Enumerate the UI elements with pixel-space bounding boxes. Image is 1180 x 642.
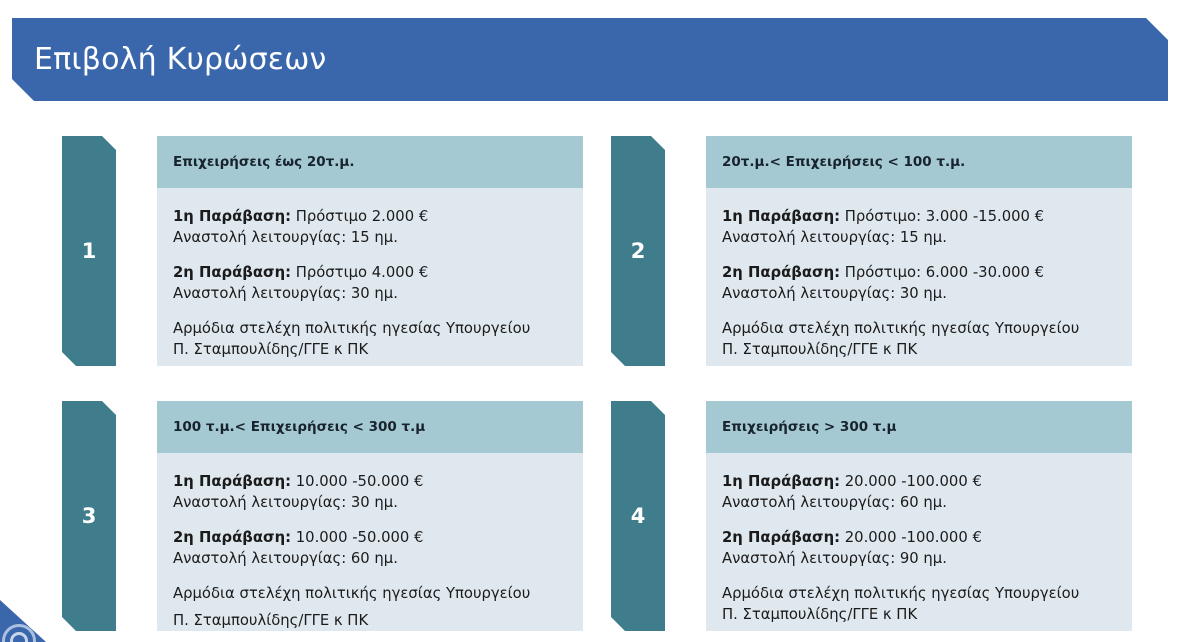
violation-1-value-3: 10.000 -50.000 € bbox=[291, 473, 423, 490]
card-header-label-3: 100 τ.μ.< Επιχειρήσεις < 300 τ.μ bbox=[173, 419, 425, 435]
card-header-1: Επιχειρήσεις έως 20τ.μ. bbox=[157, 136, 583, 188]
card-number-tab-2: 2 bbox=[611, 136, 665, 366]
violation-1-suspension-2: Αναστολή λειτουργίας: 15 ημ. bbox=[722, 227, 1116, 248]
spacer bbox=[173, 513, 567, 527]
violation-1-label-4: 1η Παράβαση: bbox=[722, 473, 840, 490]
violation-2-line-3: 2η Παράβαση: 10.000 -50.000 € bbox=[173, 527, 567, 548]
authority-line-2-card-3: Π. Σταμπουλίδης/ΓΓΕ κ ΠΚ bbox=[173, 610, 567, 631]
card-number-1: 1 bbox=[82, 241, 97, 262]
violation-2-line-2: 2η Παράβαση: Πρόστιμο: 6.000 -30.000 € bbox=[722, 262, 1116, 283]
spacer bbox=[722, 513, 1116, 527]
card-header-3: 100 τ.μ.< Επιχειρήσεις < 300 τ.μ bbox=[157, 401, 583, 453]
violation-1-suspension-4: Αναστολή λειτουργίας: 60 ημ. bbox=[722, 492, 1116, 513]
authority-line-2-card-1: Π. Σταμπουλίδης/ΓΓΕ κ ΠΚ bbox=[173, 339, 567, 360]
violation-1-value-2: Πρόστιμο: 3.000 -15.000 € bbox=[840, 208, 1044, 225]
violation-2-label-2: 2η Παράβαση: bbox=[722, 264, 840, 281]
card-number-3: 3 bbox=[82, 506, 97, 527]
sanction-card-1: 1 Επιχειρήσεις έως 20τ.μ. 1η Παράβαση: Π… bbox=[62, 136, 583, 366]
violation-2-value-3: 10.000 -50.000 € bbox=[291, 529, 423, 546]
violation-2-value-4: 20.000 -100.000 € bbox=[840, 529, 982, 546]
violation-1-line-2: 1η Παράβαση: Πρόστιμο: 3.000 -15.000 € bbox=[722, 206, 1116, 227]
violation-1-label-3: 1η Παράβαση: bbox=[173, 473, 291, 490]
card-content-4: Επιχειρήσεις > 300 τ.μ 1η Παράβαση: 20.0… bbox=[706, 401, 1132, 631]
card-header-label-2: 20τ.μ.< Επιχειρήσεις < 100 τ.μ. bbox=[722, 154, 965, 170]
authority-line-1-card-3: Αρμόδια στελέχη πολιτικής ηγεσίας Υπουργ… bbox=[173, 583, 567, 604]
sanction-card-2: 2 20τ.μ.< Επιχειρήσεις < 100 τ.μ. 1η Παρ… bbox=[611, 136, 1132, 366]
violation-1-label-2: 1η Παράβαση: bbox=[722, 208, 840, 225]
authority-line-2-card-2: Π. Σταμπουλίδης/ΓΓΕ κ ΠΚ bbox=[722, 339, 1116, 360]
title-banner: Επιβολή Κυρώσεων bbox=[12, 18, 1168, 101]
slide-canvas: Επιβολή Κυρώσεων 1 Επιχειρήσεις έως 20τ.… bbox=[0, 0, 1180, 642]
spacer bbox=[173, 569, 567, 583]
spacer bbox=[173, 304, 567, 318]
violation-1-line-1: 1η Παράβαση: Πρόστιμο 2.000 € bbox=[173, 206, 567, 227]
sanction-card-3: 3 100 τ.μ.< Επιχειρήσεις < 300 τ.μ 1η Πα… bbox=[62, 401, 583, 631]
card-content-3: 100 τ.μ.< Επιχειρήσεις < 300 τ.μ 1η Παρά… bbox=[157, 401, 583, 631]
card-body-1: 1η Παράβαση: Πρόστιμο 2.000 € Αναστολή λ… bbox=[157, 188, 583, 366]
page-title: Επιβολή Κυρώσεων bbox=[12, 43, 326, 76]
violation-2-suspension-4: Αναστολή λειτουργίας: 90 ημ. bbox=[722, 548, 1116, 569]
spacer bbox=[722, 248, 1116, 262]
violation-2-label-4: 2η Παράβαση: bbox=[722, 529, 840, 546]
card-body-4: 1η Παράβαση: 20.000 -100.000 € Αναστολή … bbox=[706, 453, 1132, 631]
sanction-card-4: 4 Επιχειρήσεις > 300 τ.μ 1η Παράβαση: 20… bbox=[611, 401, 1132, 631]
violation-1-label-1: 1η Παράβαση: bbox=[173, 208, 291, 225]
violation-2-value-1: Πρόστιμο 4.000 € bbox=[291, 264, 428, 281]
violation-1-suspension-3: Αναστολή λειτουργίας: 30 ημ. bbox=[173, 492, 567, 513]
violation-2-suspension-1: Αναστολή λειτουργίας: 30 ημ. bbox=[173, 283, 567, 304]
authority-line-1-card-4: Αρμόδια στελέχη πολιτικής ηγεσίας Υπουργ… bbox=[722, 583, 1116, 604]
violation-2-line-4: 2η Παράβαση: 20.000 -100.000 € bbox=[722, 527, 1116, 548]
card-content-1: Επιχειρήσεις έως 20τ.μ. 1η Παράβαση: Πρό… bbox=[157, 136, 583, 366]
spacer bbox=[722, 569, 1116, 583]
violation-1-value-1: Πρόστιμο 2.000 € bbox=[291, 208, 428, 225]
card-number-tab-4: 4 bbox=[611, 401, 665, 631]
card-number-2: 2 bbox=[631, 241, 646, 262]
violation-1-value-4: 20.000 -100.000 € bbox=[840, 473, 982, 490]
violation-2-line-1: 2η Παράβαση: Πρόστιμο 4.000 € bbox=[173, 262, 567, 283]
authority-line-1-card-2: Αρμόδια στελέχη πολιτικής ηγεσίας Υπουργ… bbox=[722, 318, 1116, 339]
card-header-2: 20τ.μ.< Επιχειρήσεις < 100 τ.μ. bbox=[706, 136, 1132, 188]
card-header-4: Επιχειρήσεις > 300 τ.μ bbox=[706, 401, 1132, 453]
violation-1-line-4: 1η Παράβαση: 20.000 -100.000 € bbox=[722, 471, 1116, 492]
spacer bbox=[173, 248, 567, 262]
violation-2-suspension-3: Αναστολή λειτουργίας: 60 ημ. bbox=[173, 548, 567, 569]
corner-logo-badge bbox=[0, 600, 46, 642]
violation-2-label-1: 2η Παράβαση: bbox=[173, 264, 291, 281]
card-body-2: 1η Παράβαση: Πρόστιμο: 3.000 -15.000 € Α… bbox=[706, 188, 1132, 366]
authority-line-2-card-4: Π. Σταμπουλίδης/ΓΓΕ κ ΠΚ bbox=[722, 604, 1116, 625]
spacer bbox=[722, 304, 1116, 318]
card-number-tab-1: 1 bbox=[62, 136, 116, 366]
card-header-label-4: Επιχειρήσεις > 300 τ.μ bbox=[722, 419, 896, 435]
card-body-3: 1η Παράβαση: 10.000 -50.000 € Αναστολή λ… bbox=[157, 453, 583, 631]
violation-2-value-2: Πρόστιμο: 6.000 -30.000 € bbox=[840, 264, 1044, 281]
card-header-label-1: Επιχειρήσεις έως 20τ.μ. bbox=[173, 154, 354, 170]
card-number-4: 4 bbox=[631, 506, 646, 527]
violation-2-label-3: 2η Παράβαση: bbox=[173, 529, 291, 546]
card-content-2: 20τ.μ.< Επιχειρήσεις < 100 τ.μ. 1η Παράβ… bbox=[706, 136, 1132, 366]
violation-1-suspension-1: Αναστολή λειτουργίας: 15 ημ. bbox=[173, 227, 567, 248]
authority-line-1-card-1: Αρμόδια στελέχη πολιτικής ηγεσίας Υπουργ… bbox=[173, 318, 567, 339]
violation-1-line-3: 1η Παράβαση: 10.000 -50.000 € bbox=[173, 471, 567, 492]
violation-2-suspension-2: Αναστολή λειτουργίας: 30 ημ. bbox=[722, 283, 1116, 304]
card-number-tab-3: 3 bbox=[62, 401, 116, 631]
